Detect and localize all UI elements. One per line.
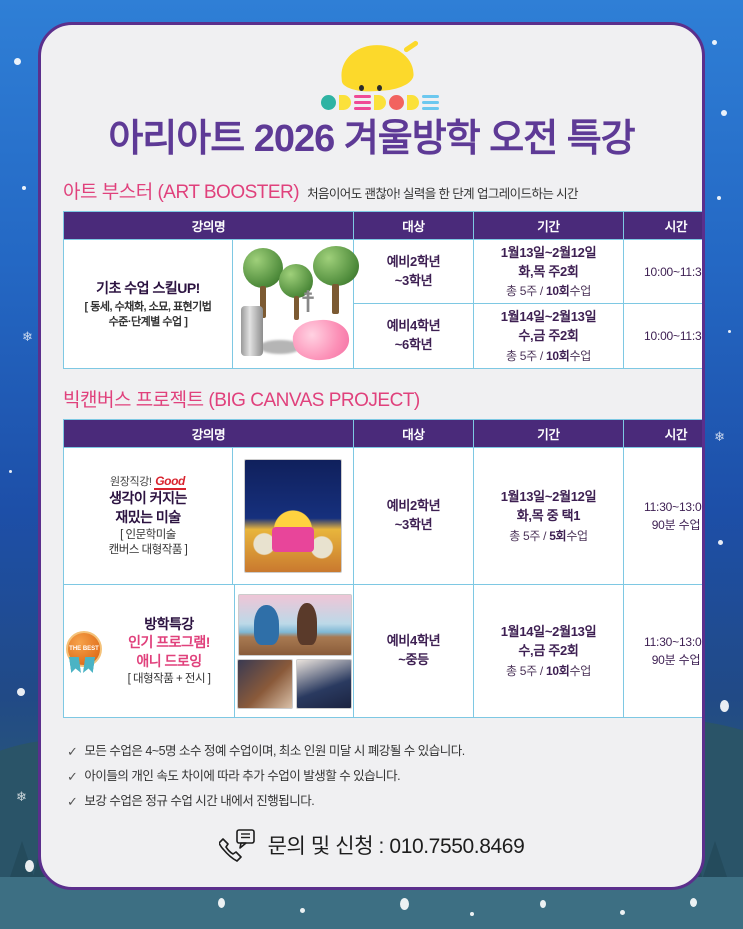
column-header-course: 강의명 [64, 420, 354, 448]
period-note: 총 5주 / 10회수업 [476, 347, 621, 364]
contact-bar[interactable]: 문의 및 신청 : 010.7550.8469 [41, 828, 702, 862]
target-cell: 예비2학년 ~3학년 [354, 239, 474, 304]
snow-dot [717, 196, 721, 200]
tree-canopy-icon [243, 248, 283, 288]
section-subtitle: 처음이어도 괜찮아! 실력을 한 단계 업그레이드하는 시간 [307, 183, 578, 202]
section-big-canvas: 빅캔버스 프로젝트 (BIG CANVAS PROJECT) 강의명 대상 기간… [63, 385, 680, 718]
period-cell: 1월14일~2월13일 수,금 주2회 총 5주 / 10회수업 [474, 304, 624, 369]
course-artwork [232, 448, 353, 584]
check-icon: ✓ [67, 790, 77, 815]
time-line1: 11:30~13:00 [626, 633, 705, 651]
snow-dot [22, 186, 26, 190]
tree-canopy-icon [313, 246, 359, 286]
target-cell: 예비4학년 ~중등 [354, 585, 474, 718]
snow-dot [400, 898, 409, 910]
period-line2: 수,금 주2회 [476, 327, 621, 346]
snow-dot [17, 688, 25, 696]
tree-trunk-icon [332, 284, 339, 314]
column-header-period: 기간 [474, 420, 624, 448]
course-name: 기초 수업 스킬UP! [68, 279, 228, 297]
snowflake-icon: ❄ [714, 430, 725, 443]
time-cell: 11:30~13:00 90분 수업 [624, 448, 706, 585]
brand-logo [307, 41, 437, 113]
target-line1: 예비2학년 [356, 253, 471, 272]
table-row: 원장직강! Good 생각이 커지는 재밌는 미술 [ 인문학미술 캔버스 대형… [64, 448, 706, 585]
snow-dot [470, 912, 474, 916]
time-line1: 10:00~11:30 [626, 327, 705, 345]
target-line1: 예비4학년 [356, 632, 471, 651]
anime-artwork-right [296, 659, 352, 709]
column-header-period: 기간 [474, 211, 624, 239]
target-line1: 예비4학년 [356, 317, 471, 336]
column-header-target: 대상 [354, 420, 474, 448]
course-artwork [234, 585, 354, 717]
snow-dot [721, 110, 727, 116]
eye-icon [377, 85, 382, 91]
wordmark-half-icon [407, 95, 419, 110]
snow-dot [720, 700, 729, 712]
course-tag: 원장직강! Good [68, 473, 228, 489]
wordmark-dot-icon [389, 95, 404, 110]
snow-dot [25, 860, 34, 872]
period-line1: 1월13일~2월12일 [476, 244, 621, 263]
table-row: THE BEST 방학특강 인기 프로그램! 애니 드로잉 [ 대형작품 + 전… [64, 585, 706, 718]
time-cell: 10:00~11:30 [624, 239, 706, 304]
wordmark-half-icon [339, 95, 351, 110]
period-note: 총 5주 / 10회수업 [476, 662, 621, 679]
period-cell: 1월14일~2월13일 수,금 주2회 총 5주 / 10회수업 [474, 585, 624, 718]
snow-dot [620, 910, 625, 915]
section-art-booster: 아트 부스터 (ART BOOSTER) 처음이어도 괜찮아! 실력을 한 단계… [63, 177, 680, 369]
period-line2: 수,금 주2회 [476, 642, 621, 661]
snow-dot [218, 898, 225, 908]
course-table-art-booster: 강의명 대상 기간 시간 기초 수업 스킬UP! [ 동세, 수채화, 소묘, … [63, 211, 705, 369]
period-cell: 1월13일~2월12일 화,목 주2회 총 5주 / 10회수업 [474, 239, 624, 304]
note-text: 모든 수업은 4~5명 소수 정예 수업이며, 최소 인원 미달 시 폐강될 수… [84, 740, 464, 764]
page-title: 아리아트 2026 겨울방학 오전 특강 [41, 119, 702, 161]
beret-stem-icon [402, 40, 418, 53]
course-name-line2: 재밌는 미술 [68, 508, 228, 526]
section-title: 빅캔버스 프로젝트 (BIG CANVAS PROJECT) [63, 385, 420, 412]
period-line1: 1월14일~2월13일 [476, 623, 621, 642]
time-line2: 90분 수업 [626, 651, 705, 669]
course-table-big-canvas: 강의명 대상 기간 시간 원장직강! G [63, 419, 705, 718]
wordmark-half-icon [374, 95, 386, 110]
snow-dot [14, 58, 21, 65]
notes-list: ✓ 모든 수업은 4~5명 소수 정예 수업이며, 최소 인원 미달 시 폐강될… [67, 740, 676, 814]
snow-dot [9, 470, 12, 473]
target-line2: ~6학년 [356, 336, 471, 355]
check-icon: ✓ [67, 740, 77, 765]
can-sketch-icon [241, 306, 263, 356]
note-item: ✓ 모든 수업은 4~5명 소수 정예 수업이며, 최소 인원 미달 시 폐강될… [67, 740, 676, 765]
course-cell-humanities-art: 원장직강! Good 생각이 커지는 재밌는 미술 [ 인문학미술 캔버스 대형… [64, 448, 354, 585]
target-cell: 예비2학년 ~3학년 [354, 448, 474, 585]
snow-dot [690, 898, 697, 907]
target-line2: ~3학년 [356, 272, 471, 291]
column-header-time: 시간 [624, 420, 706, 448]
section-title: 아트 부스터 (ART BOOSTER) [63, 177, 299, 204]
course-cell-basic-skillup: 기초 수업 스킬UP! [ 동세, 수채화, 소묘, 표현기법 수준·단계별 수… [64, 239, 354, 368]
eye-icon [359, 85, 364, 91]
anime-artwork-bottom-row [237, 659, 352, 709]
course-detail-line1: [ 인문학미술 [68, 528, 228, 544]
column-header-target: 대상 [354, 211, 474, 239]
snow-dot [718, 540, 723, 545]
table-row: 기초 수업 스킬UP! [ 동세, 수채화, 소묘, 표현기법 수준·단계별 수… [64, 239, 706, 304]
target-line1: 예비2학년 [356, 497, 471, 516]
period-note: 총 5주 / 5회수업 [476, 527, 621, 544]
brand-wordmark [321, 95, 439, 110]
column-header-time: 시간 [624, 211, 706, 239]
course-tag-text: 원장직강! [110, 476, 152, 488]
course-cell-anime-drawing: THE BEST 방학특강 인기 프로그램! 애니 드로잉 [ 대형작품 + 전… [64, 585, 354, 718]
snow-dot [728, 330, 731, 333]
time-line2: 90분 수업 [626, 516, 705, 534]
anime-artwork-group [237, 594, 352, 709]
poster: ❄ ❄ ❄ 아리아트 [0, 0, 743, 929]
wordmark-bars-icon [422, 95, 439, 110]
table-header-row: 강의명 대상 기간 시간 [64, 211, 706, 239]
note-item: ✓ 아이들의 개인 속도 차이에 따라 추가 수업이 발생할 수 있습니다. [67, 765, 676, 790]
poster-card: 아리아트 2026 겨울방학 오전 특강 아트 부스터 (ART BOOSTER… [38, 22, 705, 890]
period-line1: 1월13일~2월12일 [476, 488, 621, 507]
time-cell: 11:30~13:00 90분 수업 [624, 585, 706, 718]
course-name-line2: 애니 드로잉 [108, 652, 230, 670]
wordmark-dot-icon [321, 95, 336, 110]
course-name-line1: 생각이 커지는 [68, 489, 228, 507]
course-detail-line1: [ 동세, 수채화, 소묘, 표현기법 [68, 300, 228, 315]
period-note: 총 5주 / 10회수업 [476, 282, 621, 299]
tree-drawing-artwork: ☨ [235, 244, 365, 364]
wordmark-bars-icon [354, 95, 371, 110]
anime-artwork-top [238, 594, 352, 656]
good-stamp-icon: Good [154, 474, 186, 490]
period-line2: 화,목 주2회 [476, 263, 621, 282]
course-detail-line1: [ 대형작품 + 전시 ] [108, 672, 230, 688]
table-header-row: 강의명 대상 기간 시간 [64, 420, 706, 448]
course-name-line1: 인기 프로그램! [108, 633, 230, 651]
the-best-badge-icon: THE BEST [64, 631, 102, 671]
check-icon: ✓ [67, 765, 77, 790]
target-line2: ~3학년 [356, 516, 471, 535]
column-header-course: 강의명 [64, 211, 354, 239]
course-artwork: ☨ [232, 240, 367, 368]
course-detail-line2: 수준·단계별 수업 ] [68, 315, 228, 330]
section-header: 빅캔버스 프로젝트 (BIG CANVAS PROJECT) [63, 385, 680, 412]
period-cell: 1월13일~2월12일 화,목 중 택1 총 5주 / 5회수업 [474, 448, 624, 585]
snow-dot [540, 900, 546, 908]
time-cell: 10:00~11:30 [624, 304, 706, 369]
target-cell: 예비4학년 ~6학년 [354, 304, 474, 369]
target-line2: ~중등 [356, 651, 471, 670]
snow-dot [712, 40, 717, 45]
contact-text: 문의 및 신청 : 010.7550.8469 [268, 830, 525, 860]
course-detail-line2: 캔버스 대형작품 ] [68, 543, 228, 559]
canvas-painting-artwork [244, 459, 342, 573]
note-item: ✓ 보강 수업은 정규 수업 시간 내에서 진행됩니다. [67, 790, 676, 815]
phone-chat-icon [219, 828, 259, 862]
course-tag-text: 방학특강 [108, 615, 230, 633]
snowflake-icon: ❄ [22, 330, 33, 343]
snowflake-icon: ❄ [16, 790, 27, 803]
anime-artwork-left [237, 659, 293, 709]
period-line1: 1월14일~2월13일 [476, 308, 621, 327]
time-line1: 10:00~11:30 [626, 263, 705, 281]
period-line2: 화,목 중 택1 [476, 507, 621, 526]
section-header: 아트 부스터 (ART BOOSTER) 처음이어도 괜찮아! 실력을 한 단계… [63, 177, 680, 204]
time-line1: 11:30~13:00 [626, 498, 705, 516]
note-text: 아이들의 개인 속도 차이에 따라 추가 수업이 발생할 수 있습니다. [84, 765, 400, 789]
note-text: 보강 수업은 정규 수업 시간 내에서 진행됩니다. [84, 790, 314, 814]
snow-dot [300, 908, 305, 913]
